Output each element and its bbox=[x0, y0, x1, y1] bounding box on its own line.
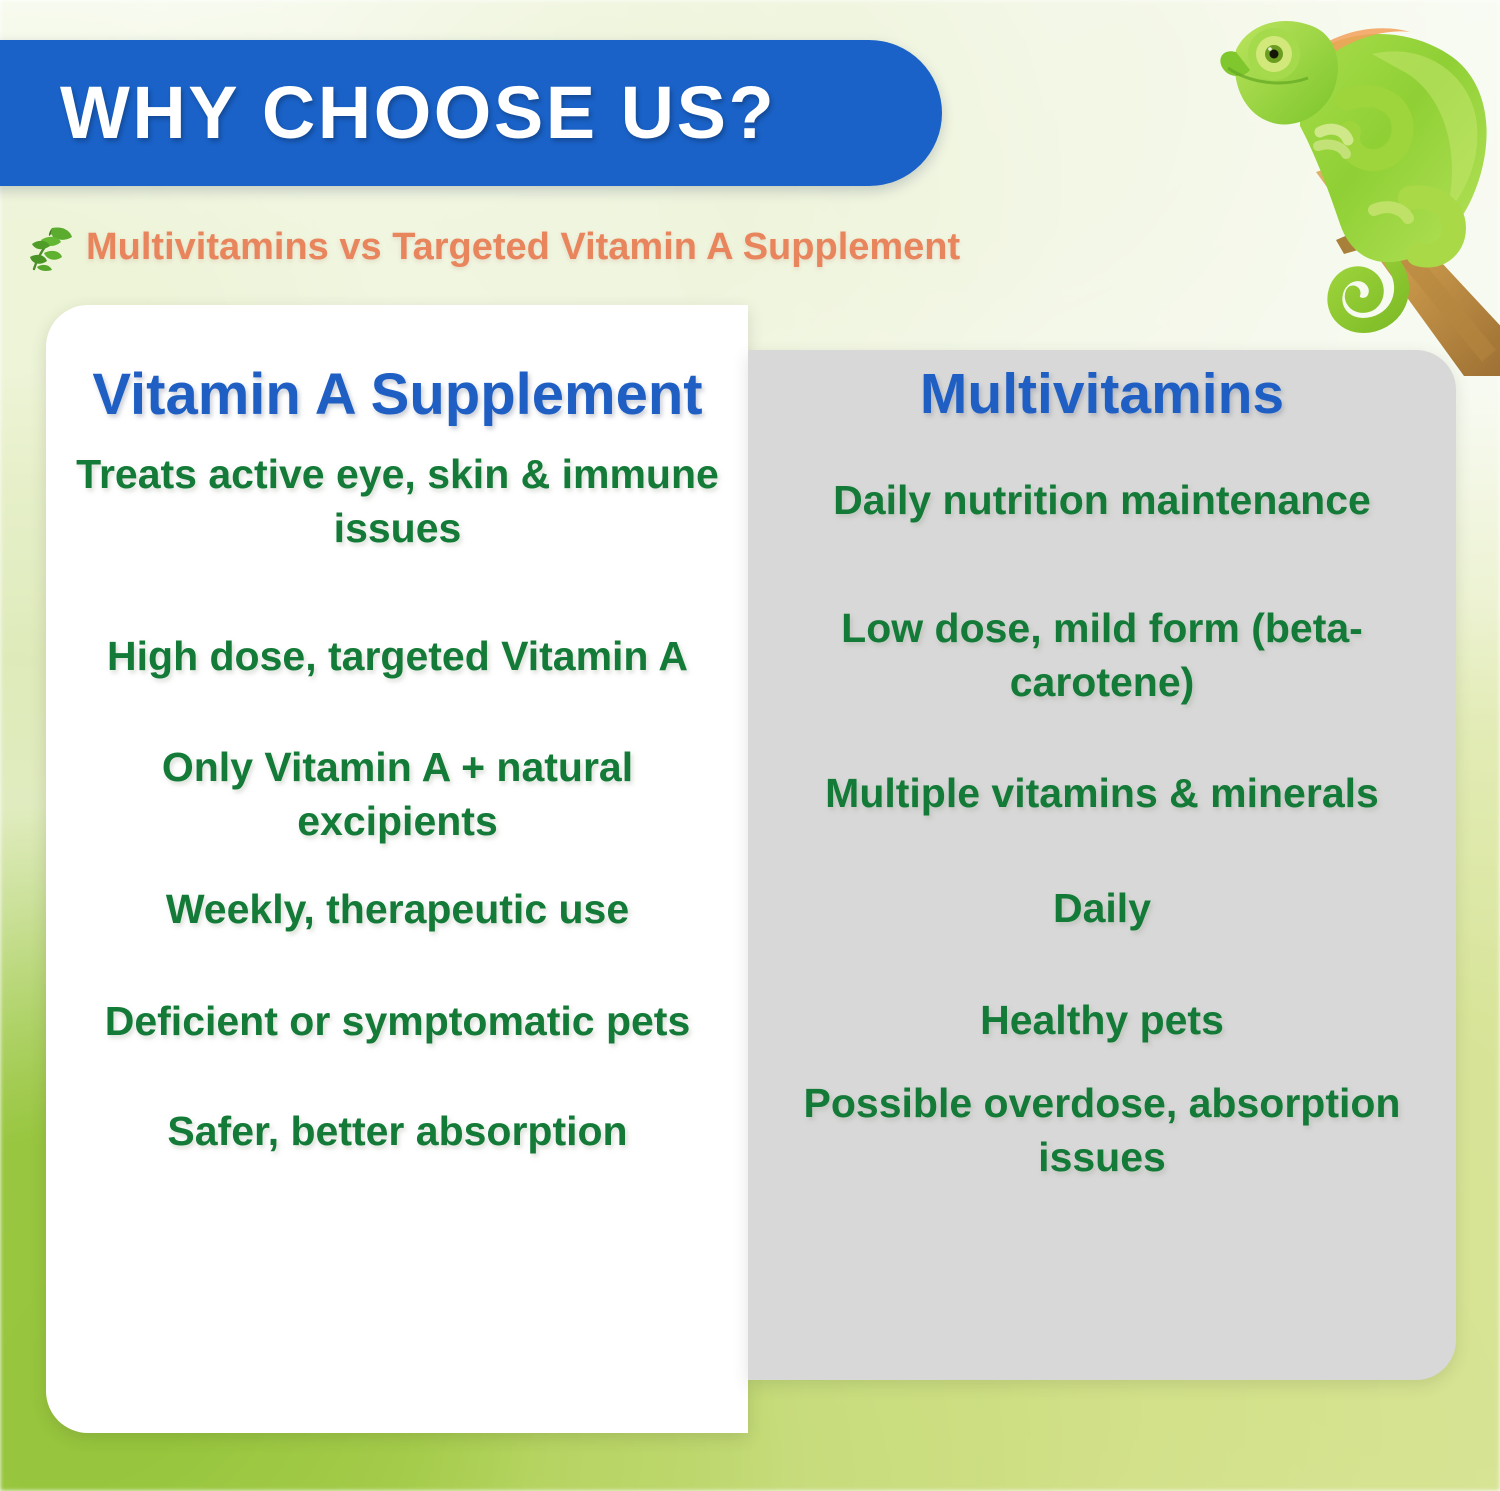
list-item: Weekly, therapeutic use bbox=[60, 853, 735, 966]
list-item: Safer, better absorption bbox=[60, 1076, 735, 1186]
multivitamins-rows: Daily nutrition maintenance Low dose, mi… bbox=[752, 425, 1452, 1185]
vitamin-a-column: Vitamin A Supplement Treats active eye, … bbox=[60, 365, 735, 1186]
vitamin-a-heading: Vitamin A Supplement bbox=[92, 365, 702, 426]
list-item: Possible overdose, absorption issues bbox=[752, 1075, 1452, 1185]
list-item: Daily bbox=[752, 852, 1452, 965]
page-title: WHY CHOOSE US? bbox=[60, 76, 776, 150]
subtitle-text: Multivitamins vs Targeted Vitamin A Supp… bbox=[86, 226, 960, 269]
list-item: Deficient or symptomatic pets bbox=[60, 966, 735, 1076]
multivitamins-column: Multivitamins Daily nutrition maintenanc… bbox=[752, 365, 1452, 1185]
multivitamins-heading: Multivitamins bbox=[920, 365, 1284, 425]
list-item: Healthy pets bbox=[752, 965, 1452, 1075]
subtitle: Multivitamins vs Targeted Vitamin A Supp… bbox=[28, 222, 960, 272]
list-item: Only Vitamin A + natural excipients bbox=[60, 736, 735, 853]
vitamin-a-rows: Treats active eye, skin & immune issues … bbox=[60, 426, 735, 1186]
leaf-sprig-icon bbox=[28, 222, 74, 272]
list-item: Low dose, mild form (beta-carotene) bbox=[752, 575, 1452, 735]
list-item: Multiple vitamins & minerals bbox=[752, 735, 1452, 852]
header-banner: WHY CHOOSE US? bbox=[0, 40, 942, 186]
infographic-page: WHY CHOOSE US? Multivitamins vs Targeted… bbox=[0, 0, 1500, 1491]
list-item: High dose, targeted Vitamin A bbox=[60, 576, 735, 736]
list-item: Daily nutrition maintenance bbox=[752, 425, 1452, 575]
list-item: Treats active eye, skin & immune issues bbox=[60, 426, 735, 576]
